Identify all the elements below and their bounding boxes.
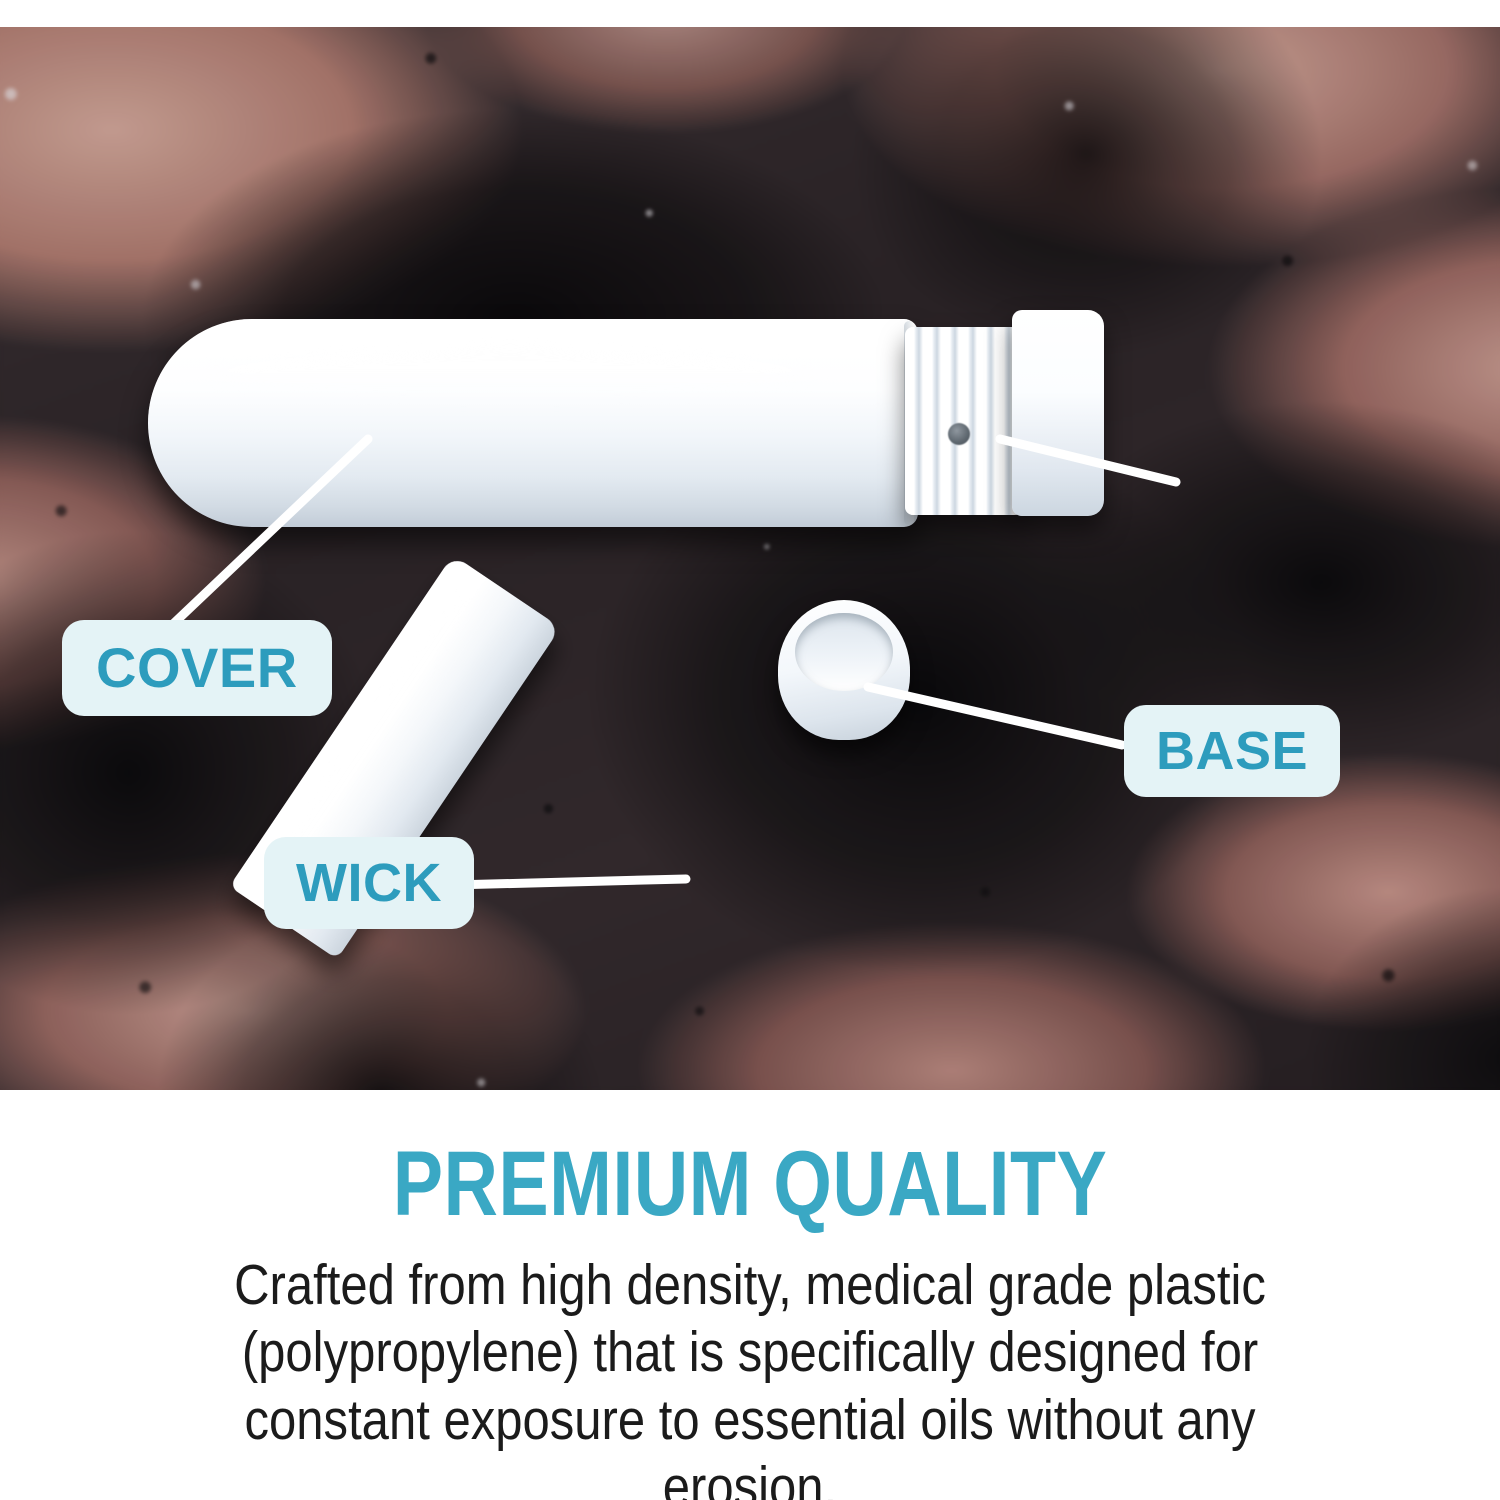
callout-cover: COVER <box>62 620 332 716</box>
inhaler-base-part <box>778 600 910 740</box>
callout-base: BASE <box>1124 705 1340 797</box>
base-inner-ring <box>795 613 893 691</box>
product-photo: COVER WICK BASE NASAL INHALER <box>0 27 1500 1090</box>
inhaler-vent-hole <box>948 423 970 445</box>
granite-blur-overlay <box>0 27 1500 1090</box>
infographic-page: COVER WICK BASE NASAL INHALER PREMIUM QU… <box>0 0 1500 1500</box>
body-copy: Crafted from high density, medical grade… <box>204 1252 1296 1500</box>
inhaler-cover-part <box>148 319 918 527</box>
inhaler-threaded-neck <box>905 327 1023 515</box>
bottom-text-section: PREMIUM QUALITY Crafted from high densit… <box>0 1090 1500 1500</box>
inhaler-cap-top <box>1012 310 1104 516</box>
cover-highlight <box>187 348 834 402</box>
callout-wick: WICK <box>264 837 474 929</box>
headline-premium-quality: PREMIUM QUALITY <box>135 1138 1365 1230</box>
